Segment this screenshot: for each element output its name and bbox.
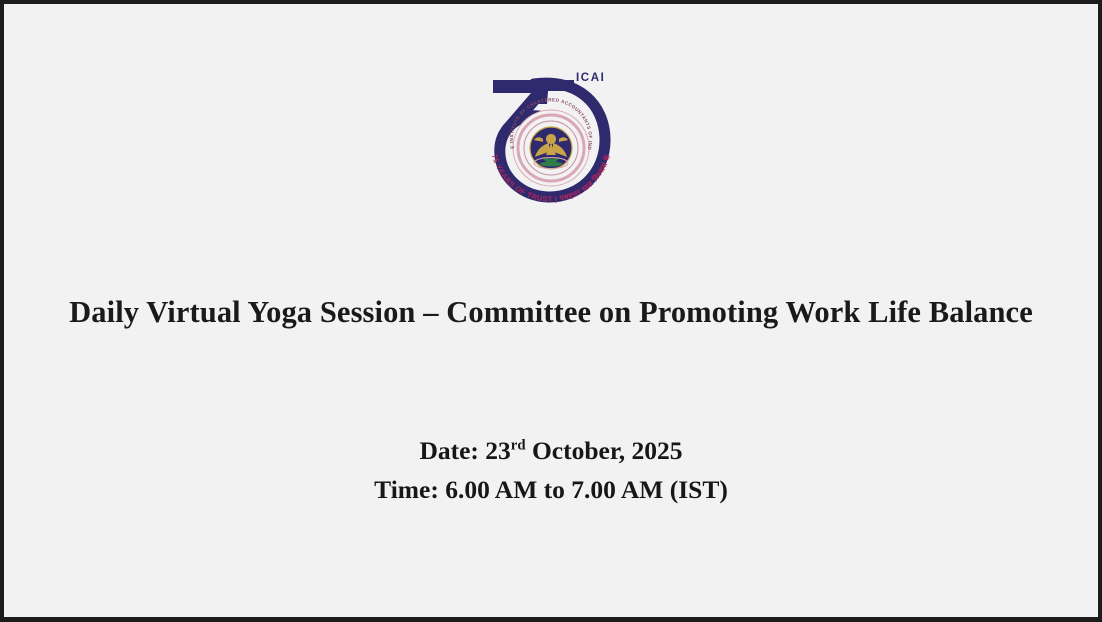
slide-canvas: ICAI THE INSTITUTE OF CHARTERED ACCOUNTA… [4,4,1098,617]
icai-75-logo: ICAI THE INSTITUTE OF CHARTERED ACCOUNTA… [476,60,626,212]
session-date-line: Date: 23rd October, 2025 [4,432,1098,471]
session-details: Date: 23rd October, 2025 Time: 6.00 AM t… [4,432,1098,510]
page-title: Daily Virtual Yoga Session – Committee o… [4,295,1098,330]
date-label: Date: [419,436,485,465]
date-day: 23 [485,436,511,465]
slide-frame: ICAI THE INSTITUTE OF CHARTERED ACCOUNTA… [0,0,1102,622]
session-time-line: Time: 6.00 AM to 7.00 AM (IST) [4,471,1098,510]
date-day-suffix: rd [511,438,526,454]
logo-icai-text: ICAI [576,72,605,84]
logo-container: ICAI THE INSTITUTE OF CHARTERED ACCOUNTA… [4,60,1098,212]
date-rest: October, 2025 [526,436,683,465]
